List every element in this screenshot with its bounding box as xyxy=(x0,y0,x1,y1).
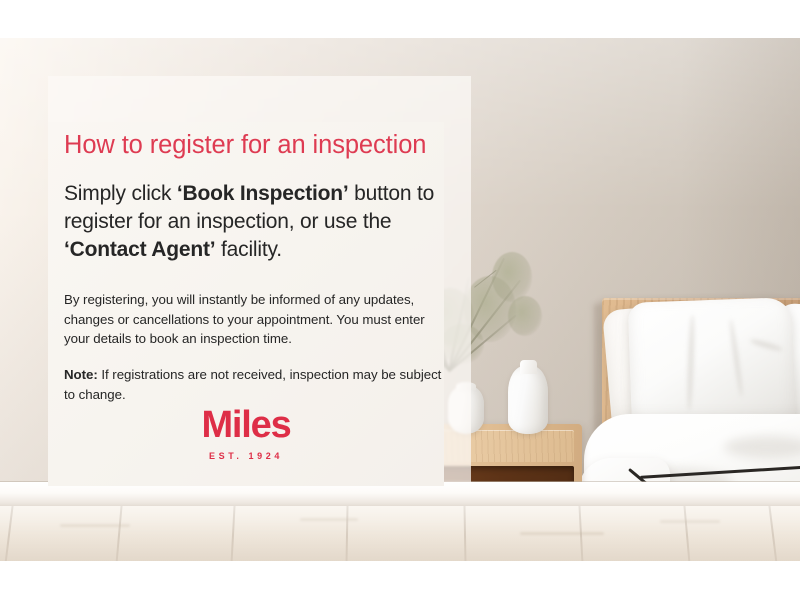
brand-logo: Miles EST. 1924 xyxy=(48,406,444,461)
contact-agent-emphasis: ‘Contact Agent’ xyxy=(64,238,215,261)
book-inspection-emphasis: ‘Book Inspection’ xyxy=(177,182,349,205)
logo-established: EST. 1924 xyxy=(48,451,444,461)
lede-part-1: Simply click xyxy=(64,182,177,205)
note-text: If registrations are not received, inspe… xyxy=(64,367,441,402)
note-label: Note: xyxy=(64,367,98,382)
vase-tall-neck xyxy=(520,360,537,374)
note-paragraph: Note: If registrations are not received,… xyxy=(64,365,444,404)
image-frame: How to register for an inspection Simply… xyxy=(0,0,800,600)
wooden-floor xyxy=(0,506,800,561)
dried-branches xyxy=(448,236,613,371)
bedroom-scene: How to register for an inspection Simply… xyxy=(0,38,800,561)
lede-part-3: facility. xyxy=(215,238,281,261)
logo-wordmark: Miles xyxy=(48,406,444,444)
body-paragraph: By registering, you will instantly be in… xyxy=(64,290,444,349)
lede-paragraph: Simply click ‘Book Inspection’ button to… xyxy=(64,180,456,264)
vase-tall xyxy=(508,366,548,434)
floor-sheen xyxy=(0,506,800,561)
card-content: How to register for an inspection Simply… xyxy=(64,130,456,404)
page-title: How to register for an inspection xyxy=(64,130,456,160)
